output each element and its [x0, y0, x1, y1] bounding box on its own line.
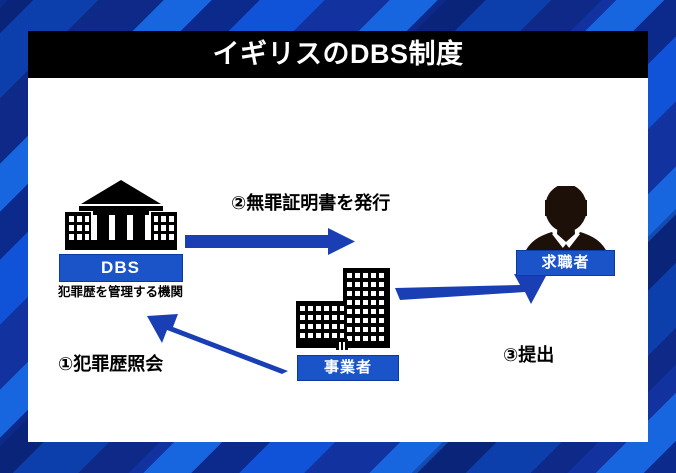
node-jobseeker-label: 求職者: [516, 250, 615, 276]
arrow-step3-label: ③提出: [503, 346, 554, 364]
node-dbs-label: DBS: [59, 254, 183, 282]
screenshot-root: イギリスのDBS制度: [0, 0, 676, 473]
arrow-step2-icon: [185, 228, 355, 255]
node-dbs[interactable]: DBS 犯罪歴を管理する機関: [33, 178, 208, 299]
office-building-icon: [273, 268, 423, 353]
node-employer-label: 事業者: [297, 355, 399, 381]
diagram-canvas: DBS 犯罪歴を管理する機関: [28, 78, 648, 442]
title-banner: イギリスのDBS制度: [28, 31, 648, 78]
arrow-step1-label: ①犯罪歴照会: [58, 355, 163, 373]
node-dbs-caption: 犯罪歴を管理する機関: [33, 286, 208, 299]
node-jobseeker[interactable]: 求職者: [498, 186, 633, 276]
node-employer[interactable]: 事業者: [273, 268, 423, 381]
arrow-step1-icon: [147, 314, 288, 374]
arrow-step2-label: ②無罪証明書を発行: [231, 194, 390, 212]
government-building-icon: [33, 178, 208, 250]
info-card: イギリスのDBS制度: [28, 31, 648, 442]
page-title: イギリスのDBS制度: [212, 41, 463, 68]
